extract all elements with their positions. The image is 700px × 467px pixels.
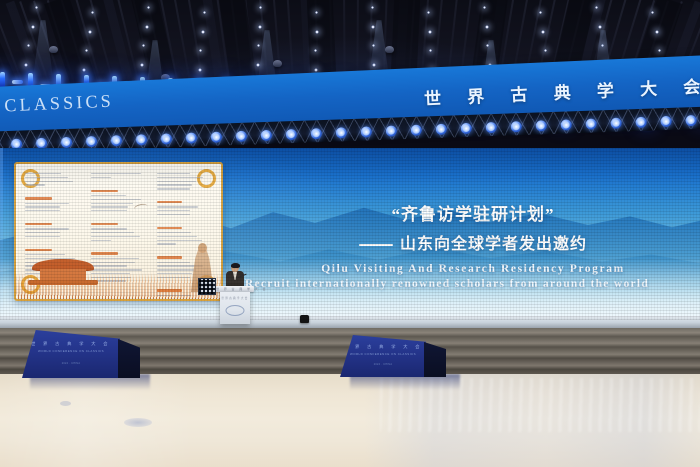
venue-floor (0, 374, 700, 467)
headline-english-line1: Qilu Visiting And Research Residency Pro… (258, 263, 688, 275)
stage-monitor-right-face: 世 界 古 典 学 大 会 WORLD CONFERENCE ON CLASSI… (340, 335, 426, 377)
stage-monitor-left: 世 界 古 典 学 大 会 WORLD CONFERENCE ON CLASSI… (22, 330, 140, 378)
qr-code-icon (198, 278, 216, 295)
headline-dash (359, 244, 393, 246)
temple-base (28, 280, 98, 285)
stage-monitor-left-en: WORLD CONFERENCE ON CLASSICS (22, 349, 120, 353)
presenter-hair (231, 263, 240, 268)
floor-vent-icon (60, 401, 71, 406)
podium-emblem-icon (226, 305, 245, 316)
screen-edge-glow (0, 148, 3, 320)
podium: 世 界 古 典 学 大 会 世界古典学大会 (216, 286, 254, 324)
podium-body: 世界古典学大会 (220, 292, 250, 324)
stage-monitor-left-face: 世 界 古 典 学 大 会 WORLD CONFERENCE ON CLASSI… (22, 330, 120, 378)
stage-monitor-right: 世 界 古 典 学 大 会 WORLD CONFERENCE ON CLASSI… (340, 335, 446, 377)
stage-lip (0, 316, 700, 328)
headline-chinese-main: “齐鲁访学驻研计划” (258, 200, 688, 225)
headline-chinese-sub-text: 山东向全球学者发出邀约 (400, 236, 587, 253)
headline-english-line2: Recruit internationally renowned scholar… (206, 278, 688, 290)
main-led-screen: “齐鲁访学驻研计划” 山东向全球学者发出邀约 Qilu Visiting And… (0, 148, 700, 320)
podium-nameplate-label: 世 界 古 典 学 大 会 (216, 287, 254, 291)
stage-object (300, 315, 309, 323)
stage-monitor-right-cn: 世 界 古 典 学 大 会 (340, 344, 426, 350)
stage-monitor-left-cn: 世 界 古 典 学 大 会 (22, 341, 120, 347)
stage-monitor-right-small: 2024 · CHINA (340, 363, 426, 366)
banner-english-title: F CLASSICS (0, 91, 114, 118)
temple-icon (18, 257, 110, 299)
stage-monitor-left-small: 2024 · CHINA (22, 362, 120, 365)
presenter (226, 263, 244, 288)
stage-monitor-right-side (424, 342, 446, 377)
banner-chinese-title: 世 界 古 典 学 大 会 (423, 72, 700, 110)
headline-chinese-sub: 山东向全球学者发出邀约 (258, 230, 688, 254)
stage-monitor-right-en: WORLD CONFERENCE ON CLASSICS (340, 352, 426, 356)
announcement-document-panel (14, 162, 223, 301)
stage-monitor-left-side (118, 339, 140, 378)
floor-vent-icon (124, 418, 152, 427)
podium-emblem-label: 世界古典学大会 (220, 296, 250, 300)
screen-headline: “齐鲁访学驻研计划” 山东向全球学者发出邀约 Qilu Visiting And… (258, 200, 688, 290)
conference-stage-photo: F CLASSICS 世 界 古 典 学 大 会 “齐鲁访学驻研计划” 山东向全… (0, 0, 700, 467)
